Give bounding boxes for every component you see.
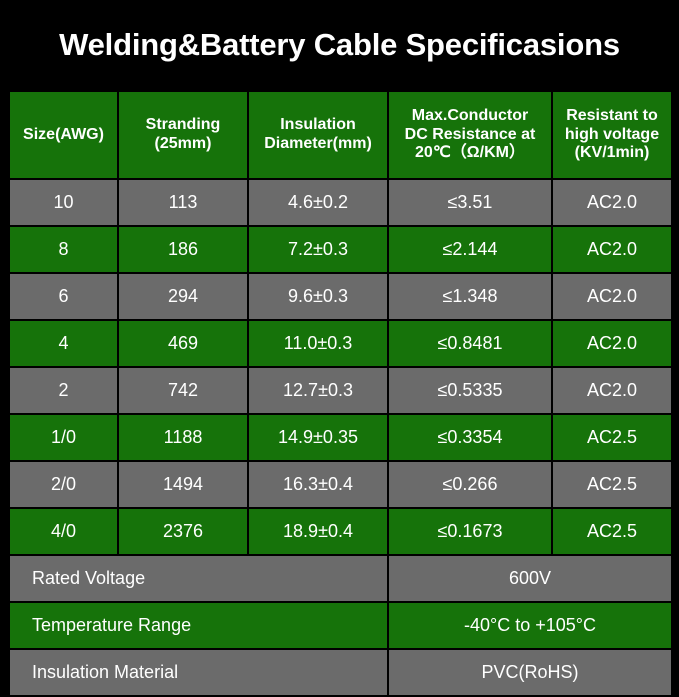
cell-high-voltage: AC2.0 xyxy=(552,179,672,226)
table-row: 4 469 11.0±0.3 ≤0.8481 AC2.0 xyxy=(9,320,672,367)
cell-dc-resistance: ≤0.1673 xyxy=(388,508,552,555)
table-row: 10 113 4.6±0.2 ≤3.51 AC2.0 xyxy=(9,179,672,226)
cell-insulation-diameter: 7.2±0.3 xyxy=(248,226,388,273)
cell-dc-resistance: ≤0.3354 xyxy=(388,414,552,461)
header-line: 20℃（Ω/KM） xyxy=(393,144,547,163)
cell-insulation-diameter: 9.6±0.3 xyxy=(248,273,388,320)
page-title: Welding&Battery Cable Specificasions xyxy=(0,0,679,90)
specifications-table: Size(AWG) Stranding (25mm) Insulation Di… xyxy=(8,90,673,697)
summary-label: Rated Voltage xyxy=(9,555,388,602)
cell-stranding: 742 xyxy=(118,367,248,414)
cell-high-voltage: AC2.0 xyxy=(552,226,672,273)
cell-insulation-diameter: 16.3±0.4 xyxy=(248,461,388,508)
column-header-dc-resistance: Max.Conductor DC Resistance at 20℃（Ω/KM） xyxy=(388,91,552,179)
cell-insulation-diameter: 14.9±0.35 xyxy=(248,414,388,461)
cell-high-voltage: AC2.0 xyxy=(552,320,672,367)
cell-size: 4/0 xyxy=(9,508,118,555)
header-line: Insulation xyxy=(253,116,383,135)
table-summary: Rated Voltage 600V Temperature Range -40… xyxy=(9,555,672,696)
cell-stranding: 1188 xyxy=(118,414,248,461)
cell-dc-resistance: ≤3.51 xyxy=(388,179,552,226)
header-line: Stranding xyxy=(123,116,243,135)
header-line: (KV/1min) xyxy=(557,144,667,163)
summary-value: -40°C to +105°C xyxy=(388,602,672,649)
column-header-stranding: Stranding (25mm) xyxy=(118,91,248,179)
cell-stranding: 1494 xyxy=(118,461,248,508)
table-header: Size(AWG) Stranding (25mm) Insulation Di… xyxy=(9,91,672,179)
column-header-high-voltage-resistance: Resistant to high voltage (KV/1min) xyxy=(552,91,672,179)
table-row: 4/0 2376 18.9±0.4 ≤0.1673 AC2.5 xyxy=(9,508,672,555)
cell-stranding: 113 xyxy=(118,179,248,226)
cell-size: 10 xyxy=(9,179,118,226)
summary-row-temperature-range: Temperature Range -40°C to +105°C xyxy=(9,602,672,649)
table-header-row: Size(AWG) Stranding (25mm) Insulation Di… xyxy=(9,91,672,179)
summary-value: PVC(RoHS) xyxy=(388,649,672,696)
cell-stranding: 294 xyxy=(118,273,248,320)
cell-insulation-diameter: 11.0±0.3 xyxy=(248,320,388,367)
cell-size: 2 xyxy=(9,367,118,414)
summary-value: 600V xyxy=(388,555,672,602)
cell-size: 2/0 xyxy=(9,461,118,508)
header-line: DC Resistance at xyxy=(393,126,547,145)
specifications-table-container: Size(AWG) Stranding (25mm) Insulation Di… xyxy=(8,90,671,679)
column-header-insulation-diameter: Insulation Diameter(mm) xyxy=(248,91,388,179)
cell-dc-resistance: ≤1.348 xyxy=(388,273,552,320)
cell-high-voltage: AC2.5 xyxy=(552,508,672,555)
header-line: Diameter(mm) xyxy=(253,135,383,154)
column-header-size: Size(AWG) xyxy=(9,91,118,179)
cell-insulation-diameter: 18.9±0.4 xyxy=(248,508,388,555)
header-line: (25mm) xyxy=(123,135,243,154)
cell-stranding: 186 xyxy=(118,226,248,273)
table-row: 2 742 12.7±0.3 ≤0.5335 AC2.0 xyxy=(9,367,672,414)
summary-row-insulation-material: Insulation Material PVC(RoHS) xyxy=(9,649,672,696)
header-line: Resistant to xyxy=(557,107,667,126)
summary-row-rated-voltage: Rated Voltage 600V xyxy=(9,555,672,602)
cell-stranding: 469 xyxy=(118,320,248,367)
header-line: Max.Conductor xyxy=(393,107,547,126)
table-row: 6 294 9.6±0.3 ≤1.348 AC2.0 xyxy=(9,273,672,320)
cell-dc-resistance: ≤0.5335 xyxy=(388,367,552,414)
cell-high-voltage: AC2.0 xyxy=(552,273,672,320)
cell-size: 6 xyxy=(9,273,118,320)
cell-dc-resistance: ≤0.266 xyxy=(388,461,552,508)
cell-size: 8 xyxy=(9,226,118,273)
cell-size: 4 xyxy=(9,320,118,367)
header-line: Size(AWG) xyxy=(14,126,113,145)
cell-stranding: 2376 xyxy=(118,508,248,555)
summary-label: Temperature Range xyxy=(9,602,388,649)
cell-high-voltage: AC2.0 xyxy=(552,367,672,414)
table-row: 1/0 1188 14.9±0.35 ≤0.3354 AC2.5 xyxy=(9,414,672,461)
cell-insulation-diameter: 12.7±0.3 xyxy=(248,367,388,414)
header-line: high voltage xyxy=(557,126,667,145)
specification-sheet: Welding&Battery Cable Specificasions Siz… xyxy=(0,0,679,679)
cell-high-voltage: AC2.5 xyxy=(552,461,672,508)
table-body: 10 113 4.6±0.2 ≤3.51 AC2.0 8 186 7.2±0.3… xyxy=(9,179,672,555)
cell-dc-resistance: ≤2.144 xyxy=(388,226,552,273)
summary-label: Insulation Material xyxy=(9,649,388,696)
cell-high-voltage: AC2.5 xyxy=(552,414,672,461)
cell-dc-resistance: ≤0.8481 xyxy=(388,320,552,367)
cell-insulation-diameter: 4.6±0.2 xyxy=(248,179,388,226)
cell-size: 1/0 xyxy=(9,414,118,461)
table-row: 8 186 7.2±0.3 ≤2.144 AC2.0 xyxy=(9,226,672,273)
table-row: 2/0 1494 16.3±0.4 ≤0.266 AC2.5 xyxy=(9,461,672,508)
